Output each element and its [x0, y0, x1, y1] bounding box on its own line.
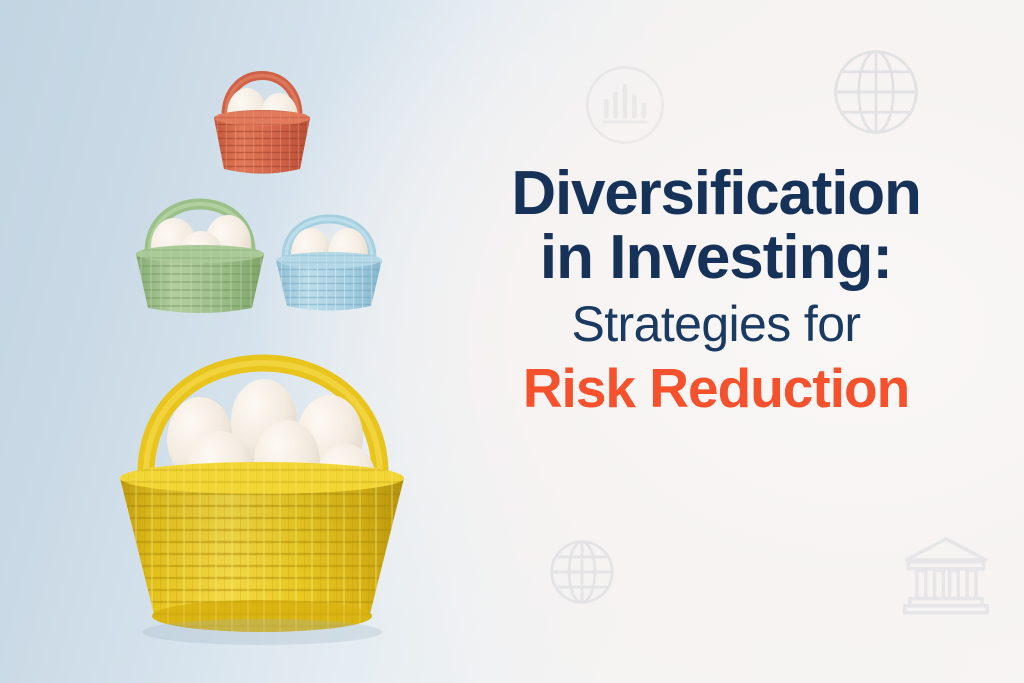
headline-line-2: in Investing:: [428, 226, 1004, 290]
bank-icon: [896, 530, 996, 618]
headline-line-1: Diversification: [428, 162, 1004, 226]
banner-canvas: Diversification in Investing: Strategies…: [0, 0, 1024, 683]
headline-line-3: Strategies for: [428, 291, 1004, 358]
green-basket: [126, 166, 274, 314]
badge-icon: [578, 58, 672, 152]
basket-illustration: [0, 0, 470, 683]
headline-line-4: Risk Reduction: [428, 358, 1004, 420]
globe-icon: [546, 536, 618, 608]
orange-basket: [204, 44, 320, 174]
globe-icon: [828, 44, 924, 140]
headline-block: Diversification in Investing: Strategies…: [428, 162, 1004, 420]
blue-basket: [268, 196, 390, 312]
yellow-basket: [112, 296, 412, 648]
